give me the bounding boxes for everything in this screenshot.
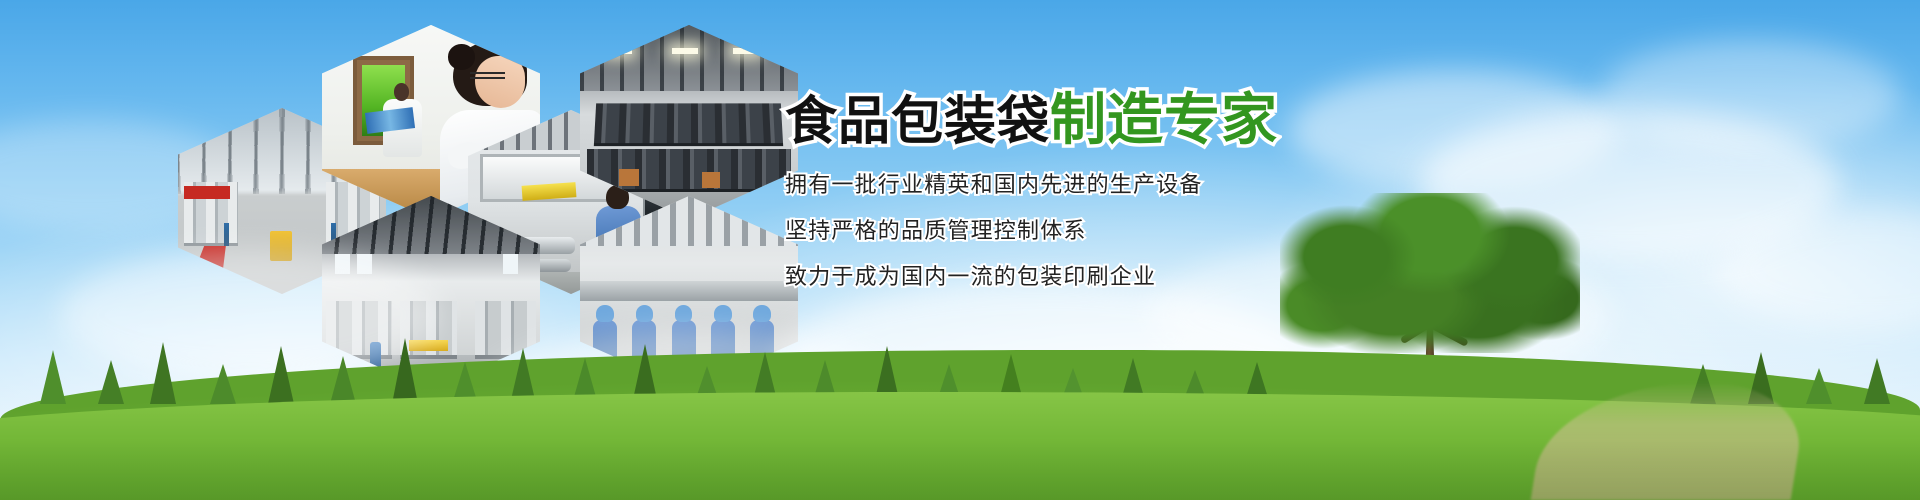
cloud <box>1600 40 1900 150</box>
hero-banner: 食品包装袋制造专家 拥有一批行业精英和国内先进的生产设备 坚持严格的品质管理控制… <box>0 0 1920 500</box>
headline-primary: 食品包装袋 <box>785 96 1050 149</box>
banner-text-block: 食品包装袋制造专家 拥有一批行业精英和国内先进的生产设备 坚持严格的品质管理控制… <box>785 92 1485 313</box>
subline-1: 拥有一批行业精英和国内先进的生产设备 <box>785 175 1485 197</box>
subline-2: 坚持严格的品质管理控制体系 <box>785 221 1485 243</box>
subline-3: 致力于成为国内一流的包装印刷企业 <box>785 267 1485 289</box>
banner-sublines: 拥有一批行业精英和国内先进的生产设备 坚持严格的品质管理控制体系 致力于成为国内… <box>785 175 1485 289</box>
banner-headline: 食品包装袋制造专家 <box>785 92 1485 149</box>
grass-shadow <box>0 440 1920 500</box>
headline-accent: 制造专家 <box>1050 92 1278 149</box>
